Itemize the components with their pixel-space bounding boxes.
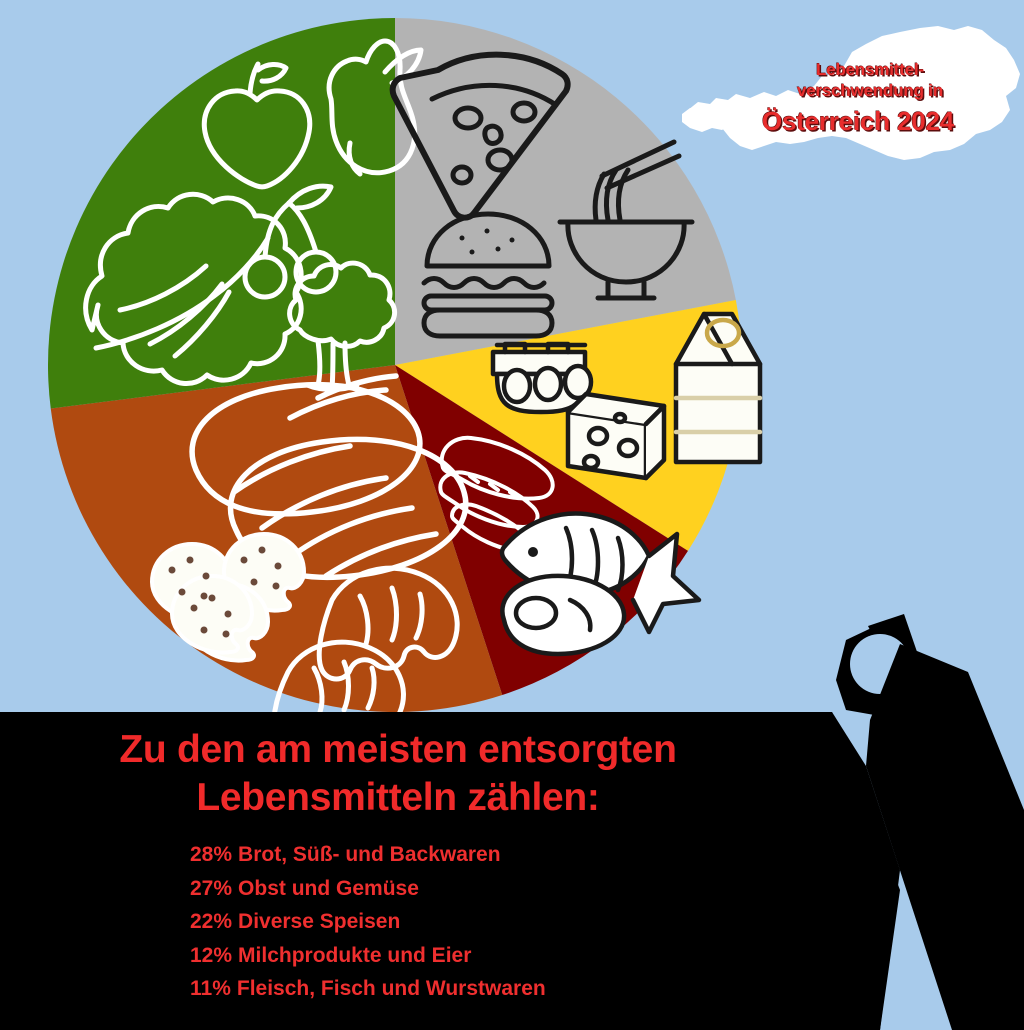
austria-map-header: Lebensmittel- verschwendung in Österreic… (676, 18, 1024, 178)
cheese-wedge-icon (568, 394, 664, 478)
infographic-canvas: Lebensmittel- verschwendung in Österreic… (0, 0, 1024, 1024)
trash-can-silhouette (0, 570, 1024, 1030)
austria-map-icon (676, 18, 1024, 178)
